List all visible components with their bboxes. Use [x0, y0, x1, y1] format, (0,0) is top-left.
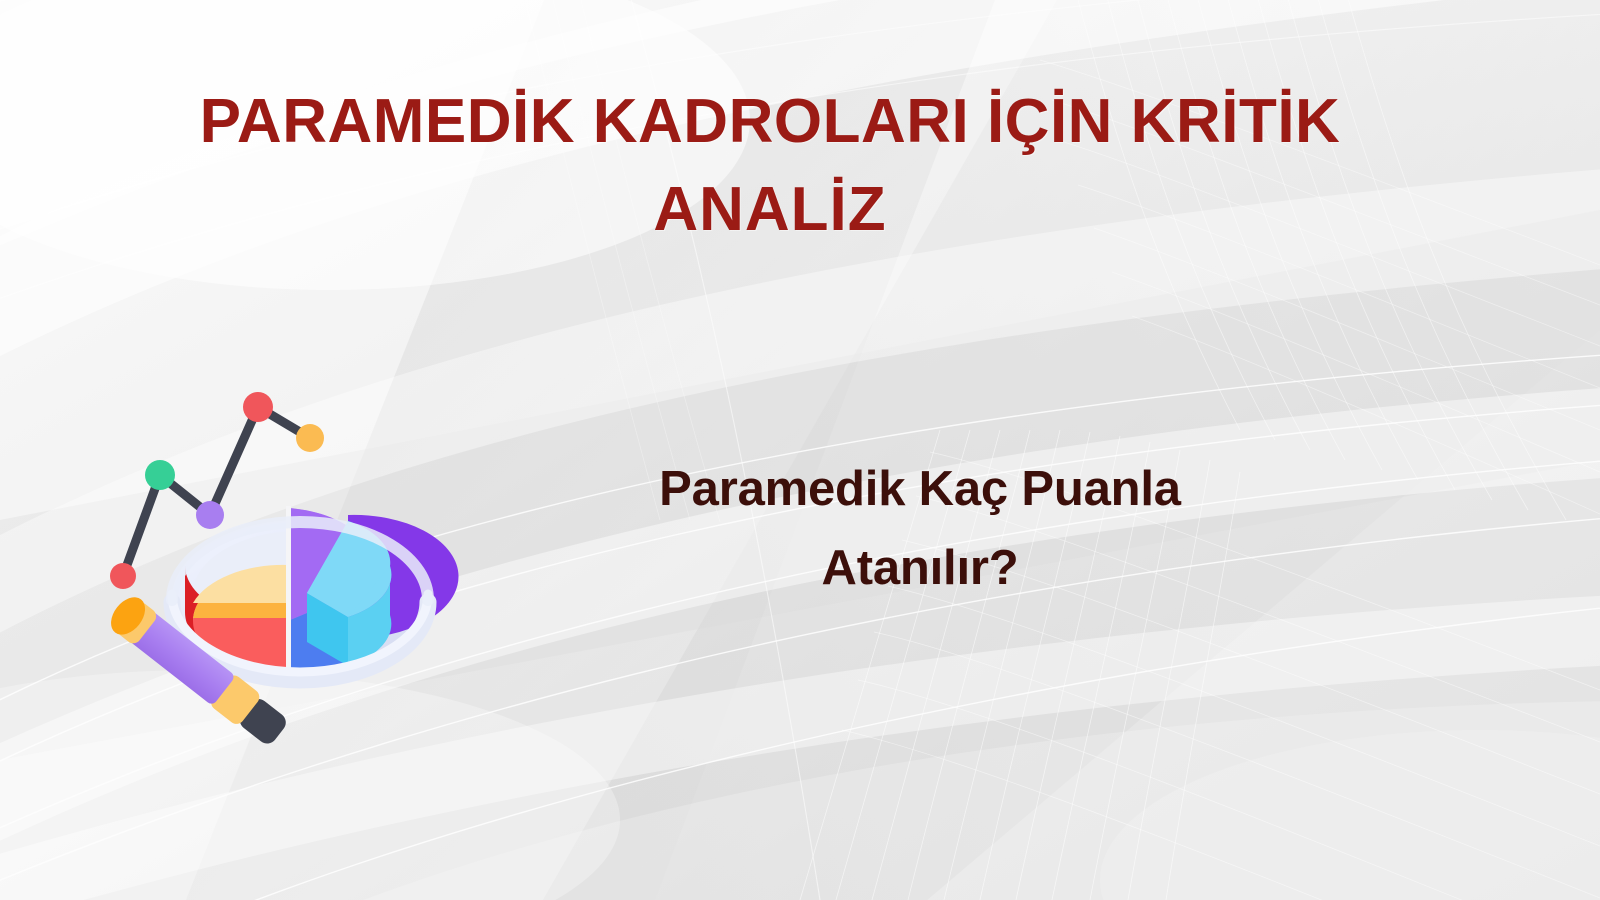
line-chart-point-1	[110, 563, 136, 589]
line-chart-point-3	[196, 501, 224, 529]
subtitle-line-2: Atanılır?	[560, 529, 1280, 608]
line-chart-point-2	[145, 460, 175, 490]
title-line-2: ANALİZ	[60, 166, 1480, 254]
page-subtitle: Paramedik Kaç Puanla Atanılır?	[560, 450, 1280, 609]
poster-canvas: PARAMEDİK KADROLARI İÇİN KRİTİK ANALİZ P…	[0, 0, 1600, 900]
line-chart-point-4	[243, 392, 273, 422]
line-chart-point-5	[296, 424, 324, 452]
subtitle-line-1: Paramedik Kaç Puanla	[560, 450, 1280, 529]
page-title: PARAMEDİK KADROLARI İÇİN KRİTİK ANALİZ	[60, 78, 1480, 254]
magnifying-glass-pie-chart-illustration	[60, 380, 500, 780]
title-line-1: PARAMEDİK KADROLARI İÇİN KRİTİK	[60, 78, 1480, 166]
pie-half-separator	[286, 506, 291, 682]
